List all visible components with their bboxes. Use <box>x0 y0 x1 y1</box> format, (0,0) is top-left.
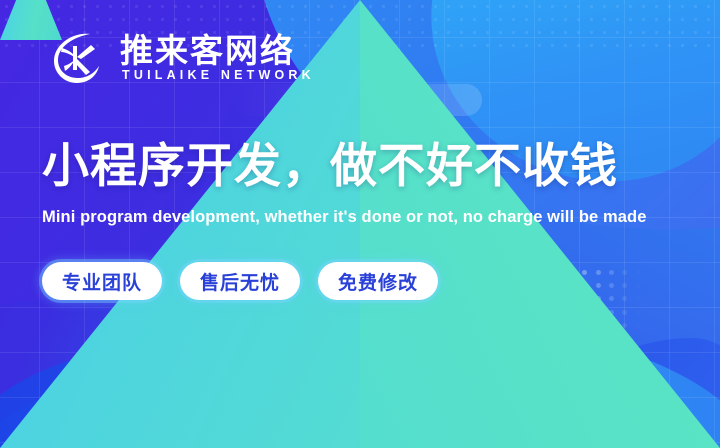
dot-matrix-dot <box>609 283 614 288</box>
dot-matrix-dot <box>636 296 641 301</box>
brand-name-cn: 推来客网络 <box>120 34 315 67</box>
dot-matrix-dot <box>622 270 627 275</box>
promo-banner: 推来客网络 TUILAIKE NETWORK 小程序开发，做不好不收钱 Mini… <box>0 0 720 448</box>
feature-pill-after-sales[interactable]: 售后无忧 <box>180 262 300 300</box>
dot-matrix-dot <box>622 310 627 315</box>
feature-pill-professional-team[interactable]: 专业团队 <box>42 262 162 300</box>
feature-pill-free-revision[interactable]: 免费修改 <box>318 262 438 300</box>
dot-matrix-dot <box>596 270 601 275</box>
dot-matrix-dot <box>596 283 601 288</box>
brand-name-en: TUILAIKE NETWORK <box>120 69 315 82</box>
dot-matrix-dot <box>609 296 614 301</box>
tuilaike-arc-logo-icon <box>46 28 106 88</box>
brand-logo[interactable]: 推来客网络 TUILAIKE NETWORK <box>46 28 315 88</box>
subtitle: Mini program development, whether it's d… <box>42 207 647 228</box>
dot-matrix-dot <box>636 283 641 288</box>
dot-matrix-dot <box>622 296 627 301</box>
dot-matrix-dot <box>636 310 641 315</box>
dot-matrix-dot <box>636 270 641 275</box>
dot-matrix-dot <box>609 270 614 275</box>
dot-matrix-dot <box>622 323 627 328</box>
dot-matrix-dot <box>636 323 641 328</box>
headline: 小程序开发，做不好不收钱 <box>42 142 618 193</box>
dot-matrix-dot <box>582 270 587 275</box>
dot-matrix-dot <box>622 283 627 288</box>
feature-pill-group: 专业团队 售后无忧 免费修改 <box>42 262 438 300</box>
